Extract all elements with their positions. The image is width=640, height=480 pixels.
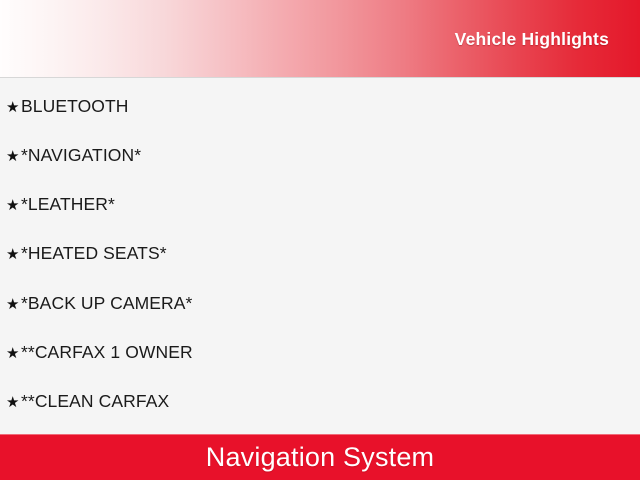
star-icon: ★ [0,346,21,361]
list-item-label: **CLEAN CARFAX [21,393,169,411]
footer-caption-text: Navigation System [206,444,435,471]
vehicle-highlights-slide: Vehicle Highlights ★ BLUETOOTH ★ *NAVIGA… [0,0,640,480]
list-item: ★ **CARFAX 1 OWNER [0,344,193,362]
star-icon: ★ [0,297,21,312]
list-item: ★ *NAVIGATION* [0,147,141,165]
list-item-label: **CARFAX 1 OWNER [21,344,193,362]
list-item: ★ *LEATHER* [0,196,115,214]
star-icon: ★ [0,247,21,262]
list-item: ★ **CLEAN CARFAX [0,393,169,411]
star-icon: ★ [0,395,21,410]
header-banner: Vehicle Highlights [0,0,640,78]
star-icon: ★ [0,149,21,164]
list-item: ★ *BACK UP CAMERA* [0,295,192,313]
page-title: Vehicle Highlights [455,29,640,50]
list-item-label: *LEATHER* [21,196,115,214]
vehicle-highlights-list: ★ BLUETOOTH ★ *NAVIGATION* ★ *LEATHER* ★… [0,78,640,434]
footer-caption-bar: Navigation System [0,434,640,480]
list-item-label: BLUETOOTH [21,98,129,116]
list-item: ★ BLUETOOTH [0,98,129,116]
list-item: ★ *HEATED SEATS* [0,245,167,263]
list-item-label: *NAVIGATION* [21,147,141,165]
star-icon: ★ [0,198,21,213]
list-item-label: *BACK UP CAMERA* [21,295,192,313]
star-icon: ★ [0,100,21,115]
list-item-label: *HEATED SEATS* [21,245,167,263]
